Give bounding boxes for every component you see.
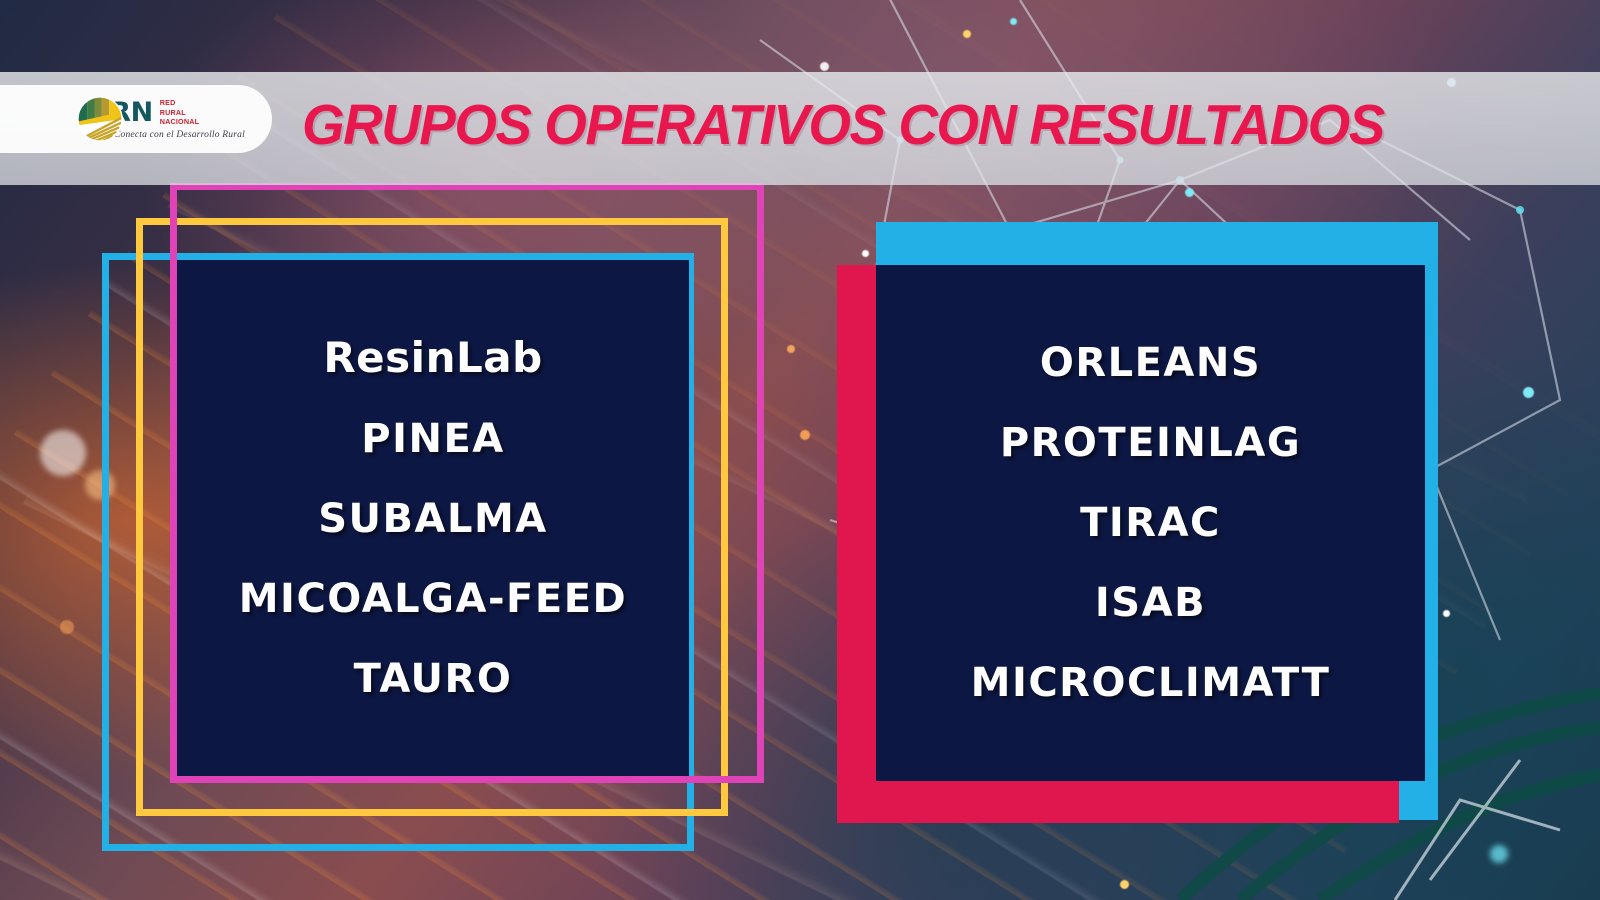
rrn-logo-line2: RURAL [160, 108, 186, 117]
slide-canvas: RRN RED RURAL NACIONAL Conecta con el De… [0, 0, 1600, 900]
rrn-logo-tagline: Conecta con el Desarrollo Rural [114, 131, 245, 141]
rrn-logo-mark-icon [77, 96, 123, 142]
rrn-logo-line3: NACIONAL [160, 117, 200, 126]
rrn-logo-line1: RED [160, 98, 176, 107]
rrn-logo-fullname: RED RURAL NACIONAL [160, 98, 200, 127]
page-title: GRUPOS OPERATIVOS CON RESULTADOS [302, 92, 1384, 158]
rrn-logo: RRN RED RURAL NACIONAL Conecta con el De… [0, 85, 272, 153]
